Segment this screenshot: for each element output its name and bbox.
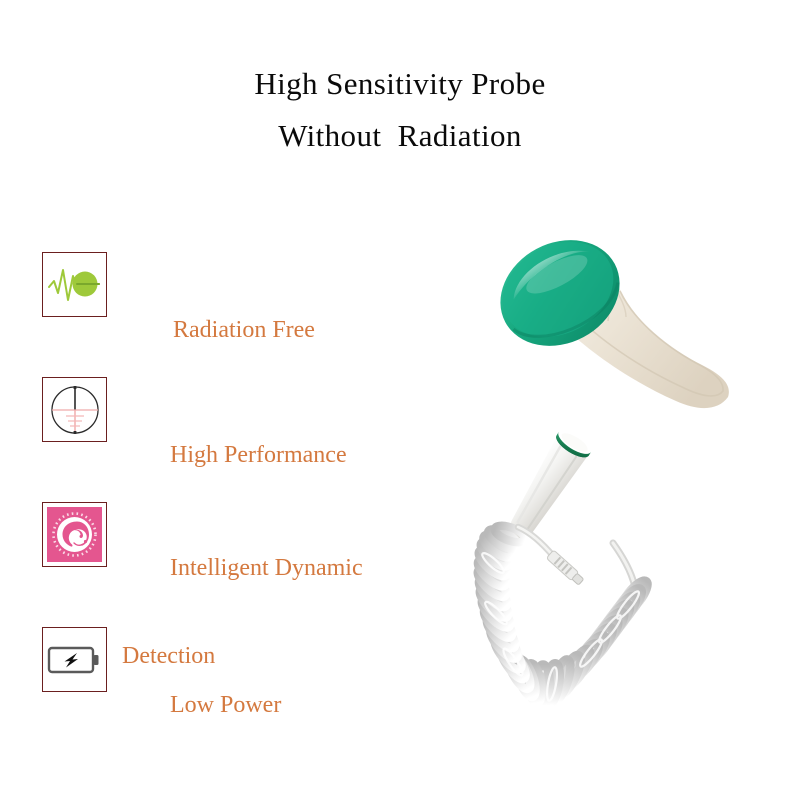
feature-item-intelligent-dynamic-detection: Intelligent Dynamic Detection [42, 502, 442, 627]
probe-head-closeup-image [470, 225, 770, 415]
product-feature-page: High Sensitivity Probe Without Radiation… [0, 0, 800, 800]
feature-label-low-power: Low Power [122, 639, 281, 771]
feature-label-line-1: Intelligent Dynamic [170, 555, 363, 581]
feature-item-radiation-free: Radiation Free [42, 252, 442, 377]
battery-bolt-icon [42, 627, 107, 692]
headline-line-2: Without Radiation [0, 110, 800, 162]
feature-item-high-performance: High Performance [42, 377, 442, 502]
probe-with-coiled-cable-image [470, 415, 770, 735]
feature-label-line-1: Radiation Free [173, 317, 315, 343]
page-title: High Sensitivity Probe Without Radiation [0, 58, 800, 162]
feature-label-line-1: High Performance [170, 442, 347, 468]
feature-list: Radiation Free High Performance [42, 252, 442, 752]
ecg-waveform-icon [42, 252, 107, 317]
feature-label-line-1: Low Power [170, 692, 281, 718]
feature-item-low-power: Low Power [42, 627, 442, 752]
crosshair-reticle-icon [42, 377, 107, 442]
headline-line-1: High Sensitivity Probe [0, 58, 800, 110]
fetus-detection-icon [42, 502, 107, 567]
